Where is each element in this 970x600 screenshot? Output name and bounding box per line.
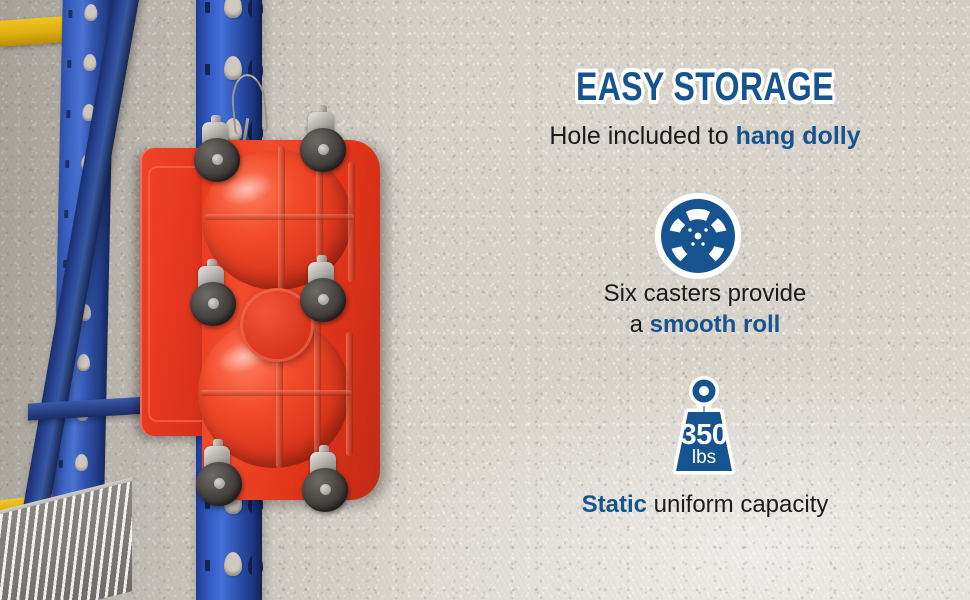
caster-bottom-right [294, 452, 358, 514]
rack-slot [66, 110, 70, 118]
caster-mid-right [292, 262, 356, 324]
rack-teardrop-hole [84, 4, 97, 21]
rack-teardrop-hole [224, 0, 242, 18]
product-photo [0, 0, 440, 600]
rack-teardrop-hole [224, 552, 242, 576]
rack-slot [64, 210, 68, 218]
caster-caption-line1: Six casters provide [604, 280, 807, 307]
caster-top-left [186, 122, 250, 184]
caster-axle [212, 154, 223, 165]
rack-teardrop-hole [83, 54, 96, 71]
rack-slot [68, 10, 72, 18]
dolly-rib [278, 146, 285, 296]
feature-caption-casters: Six casters provide a smooth roll [440, 278, 970, 340]
headline: EASY STORAGE [493, 66, 917, 108]
caster-mid-left [182, 266, 246, 328]
caster-caption-line2-accent: smooth roll [650, 311, 781, 338]
rack-teardrop-hole [77, 354, 90, 371]
caster-axle [214, 478, 225, 489]
dolly-band [200, 390, 352, 396]
caster-top-right [292, 112, 356, 174]
weight-value: 350 [654, 421, 754, 450]
subheadline-accent: hang dolly [736, 122, 861, 150]
weight-icon: 350 lbs [654, 372, 754, 478]
rack-slot [205, 2, 210, 13]
rack-slot [205, 64, 210, 75]
caster-axle [320, 484, 331, 495]
caster-axle [318, 294, 329, 305]
product-feature-banner: EASY STORAGE Hole included to hang dolly [0, 0, 970, 600]
caster-wheel-icon [654, 192, 742, 280]
feature-caption-capacity: Static uniform capacity [440, 489, 970, 520]
capacity-caption-accent: Static [582, 491, 647, 518]
feature-text-panel: EASY STORAGE Hole included to hang dolly [440, 0, 970, 600]
rack-teardrop-hole [75, 454, 88, 471]
rack-slot [59, 460, 63, 468]
subheadline: Hole included to hang dolly [440, 120, 970, 152]
rack-slot [65, 160, 69, 168]
caster-caption-line2-plain: a [630, 311, 650, 338]
caster-bottom-left [188, 446, 252, 508]
subheadline-plain: Hole included to [549, 122, 735, 150]
rack-slot [67, 60, 71, 68]
caster-axle [208, 298, 219, 309]
dolly-band [204, 214, 354, 220]
rack-slot [205, 560, 210, 571]
capacity-caption-plain: uniform capacity [647, 491, 828, 518]
caster-axle [318, 144, 329, 155]
red-dolly [140, 140, 380, 500]
weight-unit: lbs [654, 448, 754, 467]
